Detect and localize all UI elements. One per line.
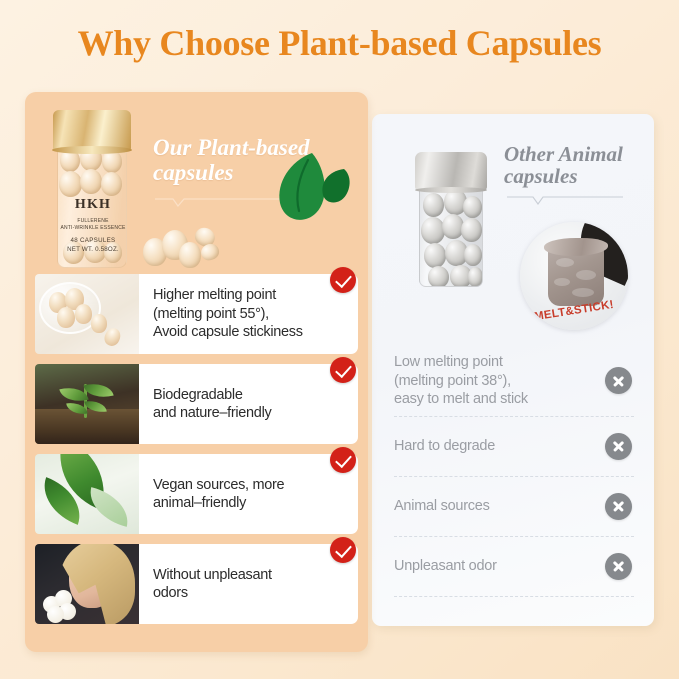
drawback-row: Animal sources: [394, 477, 634, 537]
our-plant-based-capsules-panel: HKH FULLERENE ANTI-WRINKLE ESSENCE 48 CA…: [25, 92, 368, 652]
page-title: Why Choose Plant-based Capsules: [0, 22, 679, 64]
bottle-body: HKH FULLERENE ANTI-WRINKLE ESSENCE 48 CA…: [57, 144, 127, 268]
other-capsules-heading: Other Animal capsules: [504, 143, 654, 187]
loose-capsules-image: [143, 220, 223, 274]
bottle-line-capsule-count: 48 CAPSULES: [58, 237, 127, 244]
benefit-row: Higher melting point (melting point 55°)…: [35, 274, 358, 354]
benefit-body: Without unpleasant odors: [139, 544, 358, 624]
benefit-text: Biodegradable and nature–friendly: [153, 386, 271, 423]
benefit-row: Without unpleasant odors: [35, 544, 358, 624]
drawback-row: Low melting point (melting point 38°), e…: [394, 346, 634, 417]
benefit-text: Vegan sources, more animal–friendly: [153, 476, 284, 513]
drawback-row: Hard to degrade: [394, 417, 634, 477]
benefit-row: Vegan sources, more animal–friendly: [35, 454, 358, 534]
drawback-text: Animal sources: [394, 497, 498, 516]
grey-bottle-body: [419, 186, 483, 287]
benefit-body: Higher melting point (melting point 55°)…: [139, 274, 358, 354]
x-mark-icon: [605, 433, 632, 460]
bottle-line-essence: ANTI-WRINKLE ESSENCE: [58, 225, 127, 231]
melt-and-stick-badge: MELT&STICK!: [520, 222, 628, 330]
grey-capsule-bottle-image: [410, 152, 492, 289]
benefit-text: Without unpleasant odors: [153, 566, 272, 603]
drawbacks-list: Low melting point (melting point 38°), e…: [394, 346, 634, 597]
other-animal-capsules-panel: Other Animal capsules MELT&STICK! Low me…: [372, 114, 654, 626]
benefits-list: Higher melting point (melting point 55°)…: [35, 274, 358, 634]
bottle-line-net-weight: NET WT. 0.58OZ.: [58, 246, 127, 253]
x-mark-icon: [605, 367, 632, 394]
bottle-line-fullerene: FULLERENE: [58, 218, 127, 224]
drawback-text: Unpleasant odor: [394, 557, 505, 576]
x-mark-icon: [605, 553, 632, 580]
check-mark-icon: [330, 447, 356, 473]
check-mark-icon: [330, 357, 356, 383]
leaf-icon: [268, 147, 354, 225]
x-mark-icon: [605, 493, 632, 520]
other-heading-divider: [507, 194, 623, 206]
benefit-body: Vegan sources, more animal–friendly: [139, 454, 358, 534]
drawback-text: Low melting point (melting point 38°), e…: [394, 353, 536, 409]
benefit-body: Biodegradable and nature–friendly: [139, 364, 358, 444]
check-mark-icon: [330, 267, 356, 293]
bottle-brand-label: HKH: [58, 197, 127, 213]
grey-bottle-cap: [415, 152, 487, 190]
check-mark-icon: [330, 537, 356, 563]
benefit-thumbnail-woman: [35, 544, 139, 624]
product-bottle-image: HKH FULLERENE ANTI-WRINKLE ESSENCE 48 CA…: [47, 110, 139, 270]
drawback-text: Hard to degrade: [394, 437, 503, 456]
benefit-row: Biodegradable and nature–friendly: [35, 364, 358, 444]
benefit-thumbnail-leaves: [35, 454, 139, 534]
benefit-text: Higher melting point (melting point 55°)…: [153, 286, 303, 342]
melted-capsule-blob: [548, 244, 604, 306]
benefit-thumbnail-capsules: [35, 274, 139, 354]
bottle-cap: [53, 110, 131, 150]
benefit-thumbnail-sprout: [35, 364, 139, 444]
drawback-row: Unpleasant odor: [394, 537, 634, 597]
